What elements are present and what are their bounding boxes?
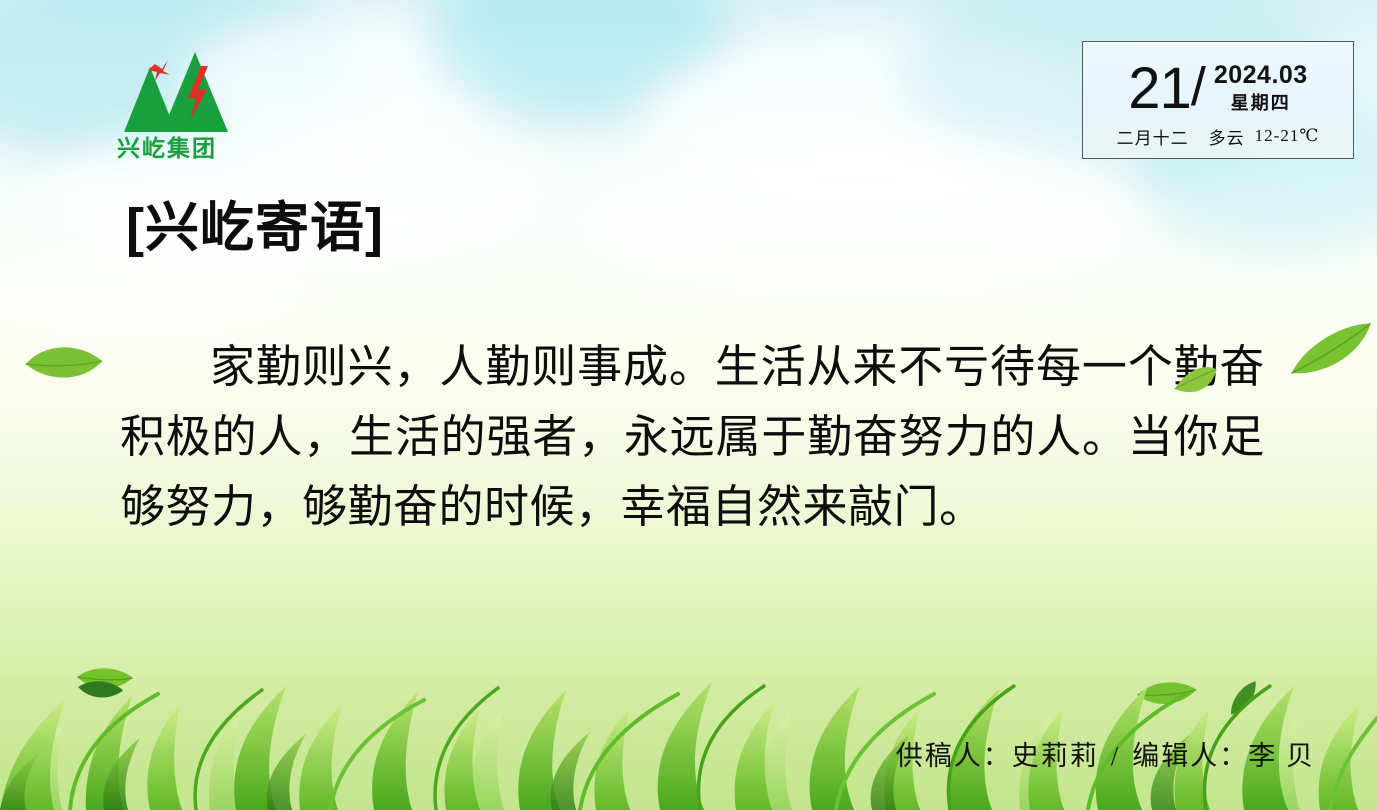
date-lunar-weather-row: 二月十二 多云 12-21℃ <box>1083 124 1353 149</box>
leaf-icon <box>1282 320 1377 385</box>
poster-canvas: 兴屹集团 21 / 2024.03 星期四 二月十二 多云 12-21℃ [兴屹… <box>0 0 1377 810</box>
date-day: 21 <box>1128 60 1191 118</box>
credits-line: 供稿人：史莉莉/编辑人：李 贝 <box>896 734 1315 773</box>
contributor-label: 供稿人： <box>896 741 1012 771</box>
date-year-month: 2024.03 <box>1214 62 1308 90</box>
message-body: 家勤则兴，人勤则事成。生活从来不亏待每一个勤奋积极的人，生活的强者，永远属于勤奋… <box>120 332 1265 542</box>
logo-text: 兴屹集团 <box>92 137 242 160</box>
page-title: [兴屹寄语] <box>126 199 384 258</box>
cloud-shape <box>640 30 1100 210</box>
company-logo: 兴屹集团 <box>92 40 242 162</box>
date-primary-row: 21 / 2024.03 星期四 <box>1083 52 1353 128</box>
cloud-shape <box>430 0 730 120</box>
lunar-date: 二月十二 <box>1117 124 1189 149</box>
date-slash-separator: / <box>1191 60 1206 114</box>
contributor-name: 史莉莉 <box>1012 741 1099 771</box>
cloud-shape <box>560 140 1160 300</box>
leaf-icon <box>20 328 106 398</box>
date-secondary-group: 2024.03 星期四 <box>1214 62 1308 114</box>
weather-condition: 多云 <box>1209 124 1245 149</box>
editor-name: 李 贝 <box>1248 741 1315 771</box>
date-weather-card: 21 / 2024.03 星期四 二月十二 多云 12-21℃ <box>1082 41 1354 159</box>
credits-separator: / <box>1111 741 1121 771</box>
mountain-logo-icon <box>92 40 242 135</box>
editor-label: 编辑人： <box>1132 741 1248 771</box>
date-weekday: 星期四 <box>1231 93 1291 115</box>
weather-temperature: 12-21℃ <box>1255 126 1320 146</box>
weather-group: 多云 12-21℃ <box>1209 124 1320 149</box>
